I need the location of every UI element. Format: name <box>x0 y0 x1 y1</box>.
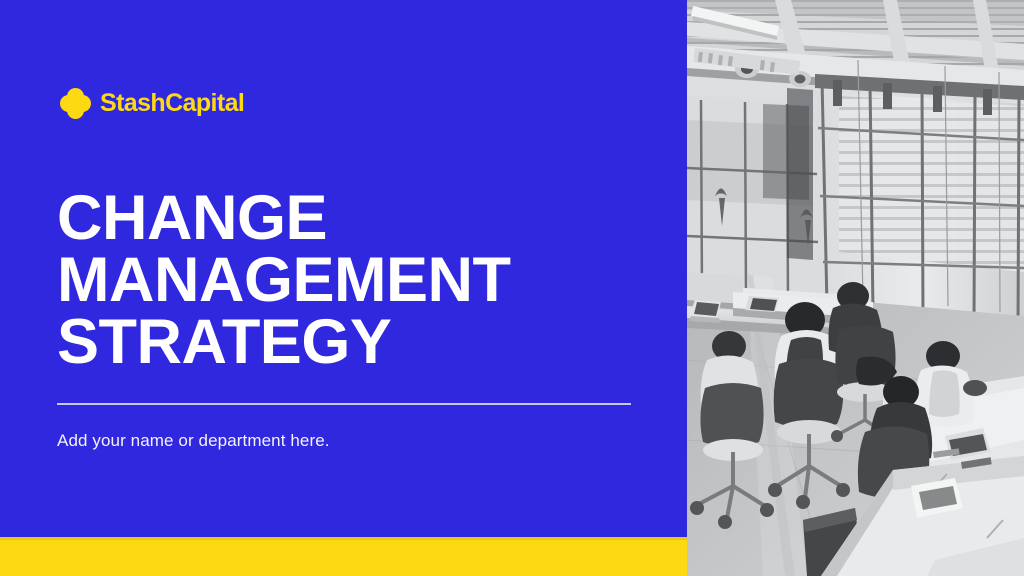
footer-accent-bar <box>0 537 687 576</box>
slide-title: CHANGE MANAGEMENT STRATEGY <box>57 188 667 373</box>
title-divider <box>57 403 631 405</box>
office-photo <box>687 0 1024 576</box>
slide-title-line-3: STRATEGY <box>57 312 667 374</box>
presentation-slide: StashCapital CHANGE MANAGEMENT STRATEGY … <box>0 0 1024 576</box>
slide-title-line-1: CHANGE <box>57 188 667 250</box>
slide-title-line-2: MANAGEMENT <box>57 250 667 312</box>
clover-quatrefoil-icon <box>60 88 91 119</box>
brand-name: StashCapital <box>100 91 244 116</box>
brand-logo[interactable]: StashCapital <box>60 85 244 121</box>
office-photo-image <box>687 0 1024 576</box>
slide-subtitle: Add your name or department here. <box>57 430 330 452</box>
